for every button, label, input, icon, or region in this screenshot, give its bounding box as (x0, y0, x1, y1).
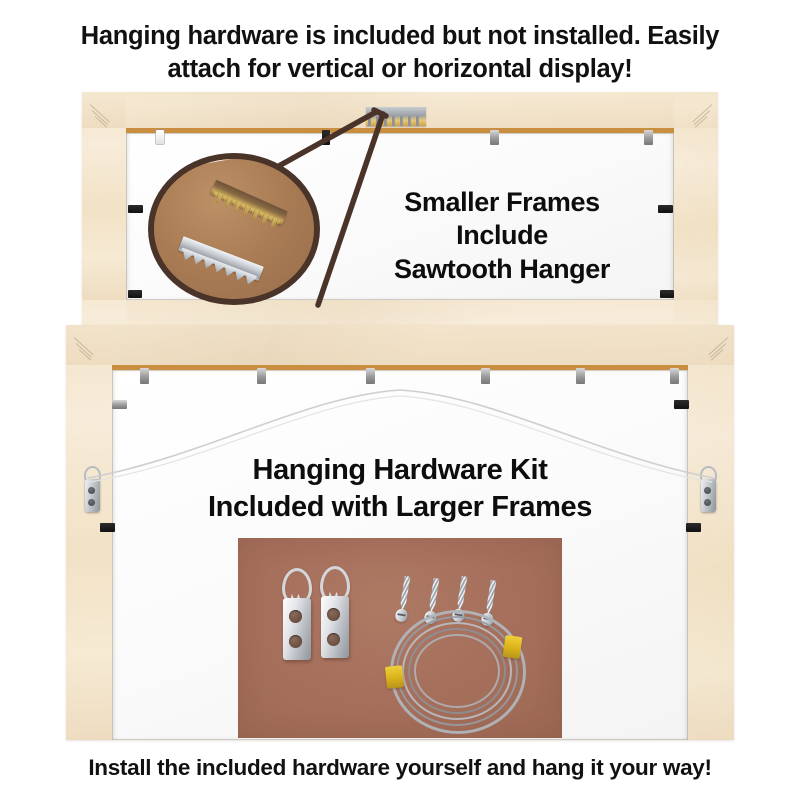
bottom-caption: Install the included hardware yourself a… (0, 755, 800, 781)
backing-clip (686, 523, 701, 532)
sawtooth-teeth (368, 116, 424, 126)
backing-clip (644, 130, 653, 145)
d-ring-screw-hole (327, 608, 340, 621)
backing-clip (112, 400, 127, 409)
d-ring-screw-hole (704, 499, 711, 506)
backing-clip (128, 205, 143, 213)
kit-coiled-wire (390, 610, 520, 732)
d-ring-hanger-left (84, 466, 101, 512)
lower-panel-headline: Hanging Hardware Kit Included with Large… (112, 452, 688, 525)
infographic-canvas: Hanging hardware is included but not ins… (0, 0, 800, 800)
backing-clip (322, 130, 330, 145)
magnifier-cardboard-backdrop (152, 157, 316, 301)
magnifier-lens (148, 153, 320, 305)
backing-clip (670, 368, 679, 384)
backing-clip (257, 368, 266, 384)
kit-d-ring-hanger (280, 568, 314, 644)
backing-clip (674, 400, 689, 409)
backing-clip (128, 290, 142, 298)
d-ring-screw-hole (289, 610, 302, 623)
backing-clip (481, 368, 490, 384)
top-caption-line-1: Hanging hardware is included but not ins… (16, 20, 784, 53)
screw-shaft (456, 576, 467, 611)
wire-band (503, 635, 523, 659)
backing-clip (156, 130, 164, 144)
upper-headline-line-1: Smaller Frames (352, 186, 652, 219)
backing-clip (140, 368, 149, 384)
d-ring-hanger-right (700, 466, 717, 512)
kit-d-ring-hanger (318, 566, 352, 642)
backing-clip (490, 130, 499, 145)
d-ring-plate (701, 479, 716, 512)
backing-clip (366, 368, 375, 384)
sawtooth-hanger-on-frame (366, 107, 426, 126)
d-ring-screw-hole (88, 499, 95, 506)
top-caption: Hanging hardware is included but not ins… (0, 20, 800, 86)
lower-headline-line-1: Hanging Hardware Kit (112, 452, 688, 489)
sawtooth-magnifier-callout (148, 153, 320, 305)
backing-clip (660, 290, 674, 298)
wire-band (385, 665, 404, 689)
screw-shaft (399, 576, 410, 611)
backing-clip (658, 205, 673, 213)
d-ring-plate (321, 596, 349, 658)
d-ring-plate (85, 479, 100, 512)
upper-panel-headline: Smaller Frames Include Sawtooth Hanger (352, 186, 652, 286)
d-ring-plate (283, 598, 311, 660)
d-ring-screw-hole (88, 487, 95, 494)
hardware-kit-photo (238, 538, 562, 738)
d-ring-screw-hole (289, 635, 302, 648)
top-caption-line-2: attach for vertical or horizontal displa… (16, 53, 784, 86)
d-ring-screw-hole (704, 487, 711, 494)
upper-headline-line-2: Include (352, 219, 652, 252)
upper-headline-line-3: Sawtooth Hanger (352, 253, 652, 286)
screw-shaft (428, 578, 439, 613)
d-ring-screw-hole (327, 633, 340, 646)
backing-clip (576, 368, 585, 384)
lower-headline-line-2: Included with Larger Frames (112, 489, 688, 526)
wire-coil-loop (414, 634, 500, 708)
